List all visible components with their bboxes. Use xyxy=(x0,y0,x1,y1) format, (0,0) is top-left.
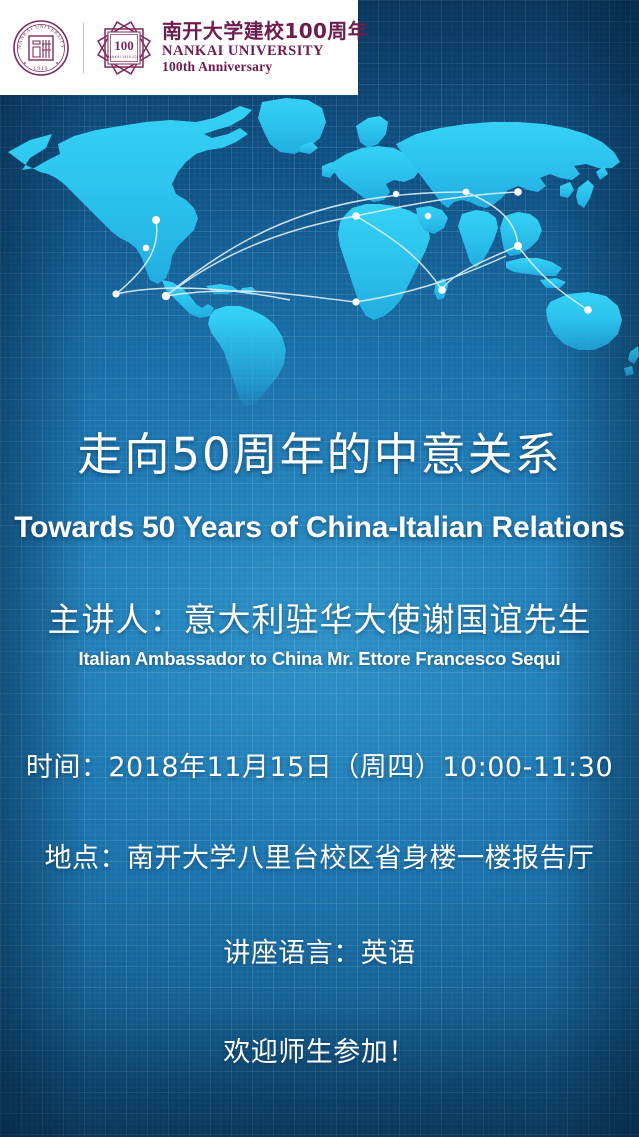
event-venue: 地点：南开大学八里台校区省身楼一楼报告厅 xyxy=(0,836,639,875)
header-title-cn: 南开大学建校100周年 xyxy=(162,21,368,42)
page-title-cn: 走向50周年的中意关系 xyxy=(0,418,639,483)
speaker-name-en: Italian Ambassador to China Mr. Ettore F… xyxy=(0,648,639,670)
header-text-block: 南开大学建校100周年 NANKAI UNIVERSITY 100th Anni… xyxy=(162,21,368,75)
svg-text:NANKAI 1919-2019: NANKAI 1919-2019 xyxy=(107,55,141,59)
nankai-university-seal-icon: NANKAI UNIVERSITY 1919 xyxy=(12,19,70,77)
header-title-en-line2: 100th Anniversary xyxy=(162,60,368,74)
poster-content: 走向50周年的中意关系 Towards 50 Years of China-It… xyxy=(0,400,639,1069)
map-landmasses xyxy=(8,98,639,406)
event-time: 时间：2018年11月15日（周四）10:00-11:30 xyxy=(0,745,639,784)
svg-text:100: 100 xyxy=(114,38,134,53)
welcome-note: 欢迎师生参加！ xyxy=(0,1030,639,1069)
event-language: 讲座语言：英语 xyxy=(0,931,639,970)
svg-text:1919: 1919 xyxy=(33,66,48,72)
header-title-en-line1: NANKAI UNIVERSITY xyxy=(162,44,368,59)
world-map-graphic xyxy=(0,96,639,406)
100th-anniversary-star-emblem-icon: 100 NANKAI 1919-2019 xyxy=(96,20,152,76)
event-poster: NANKAI UNIVERSITY 1919 100 xyxy=(0,0,639,1137)
speaker-name-cn: 主讲人：意大利驻华大使谢国谊先生 xyxy=(0,593,639,641)
vertical-divider-icon xyxy=(83,23,84,73)
university-branding-header: NANKAI UNIVERSITY 1919 100 xyxy=(0,0,358,95)
page-title-en: Towards 50 Years of China-Italian Relati… xyxy=(0,511,639,545)
